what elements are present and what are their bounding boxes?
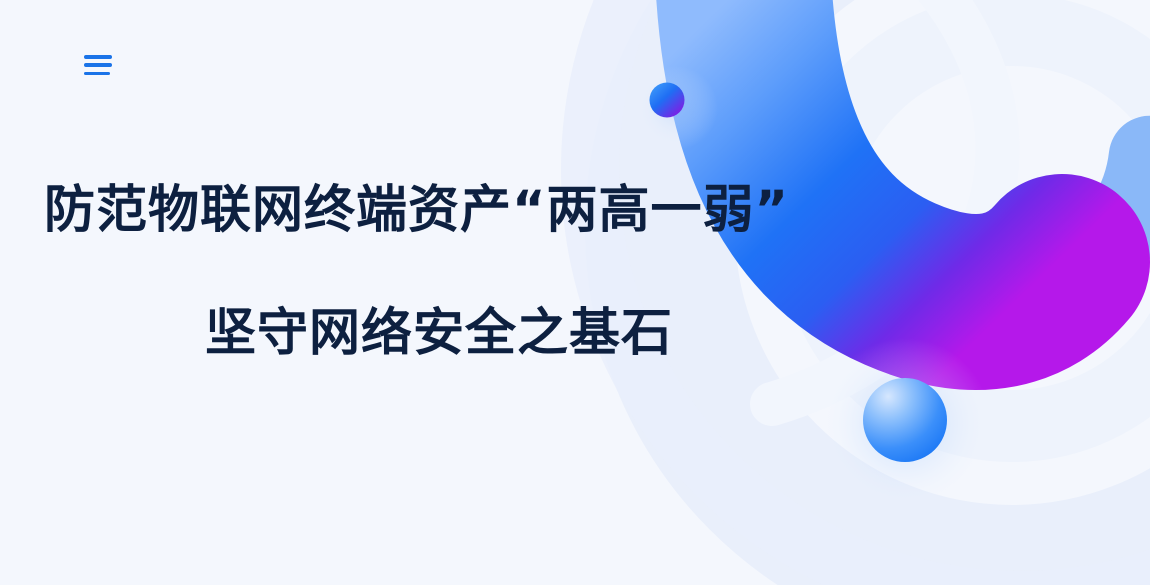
hamburger-menu-icon[interactable] — [84, 52, 112, 78]
slide-canvas: 防范物联网终端资产“两高一弱” 坚守网络安全之基石 — [0, 0, 1150, 585]
hamburger-bar-bottom — [84, 72, 110, 76]
title-line-primary: 防范物联网终端资产“两高一弱” — [0, 185, 880, 236]
large-blue-sphere — [863, 378, 947, 462]
small-sphere-glow — [634, 66, 718, 150]
page-title: 防范物联网终端资产“两高一弱” 坚守网络安全之基石 — [0, 185, 880, 359]
hamburger-bar-top — [84, 55, 112, 59]
large-sphere-glow — [819, 338, 991, 510]
hamburger-bar-middle — [84, 63, 112, 67]
title-line-secondary: 坚守网络安全之基石 — [0, 308, 880, 359]
small-gradient-sphere — [650, 83, 685, 118]
light-blue-arc — [934, 157, 1150, 328]
